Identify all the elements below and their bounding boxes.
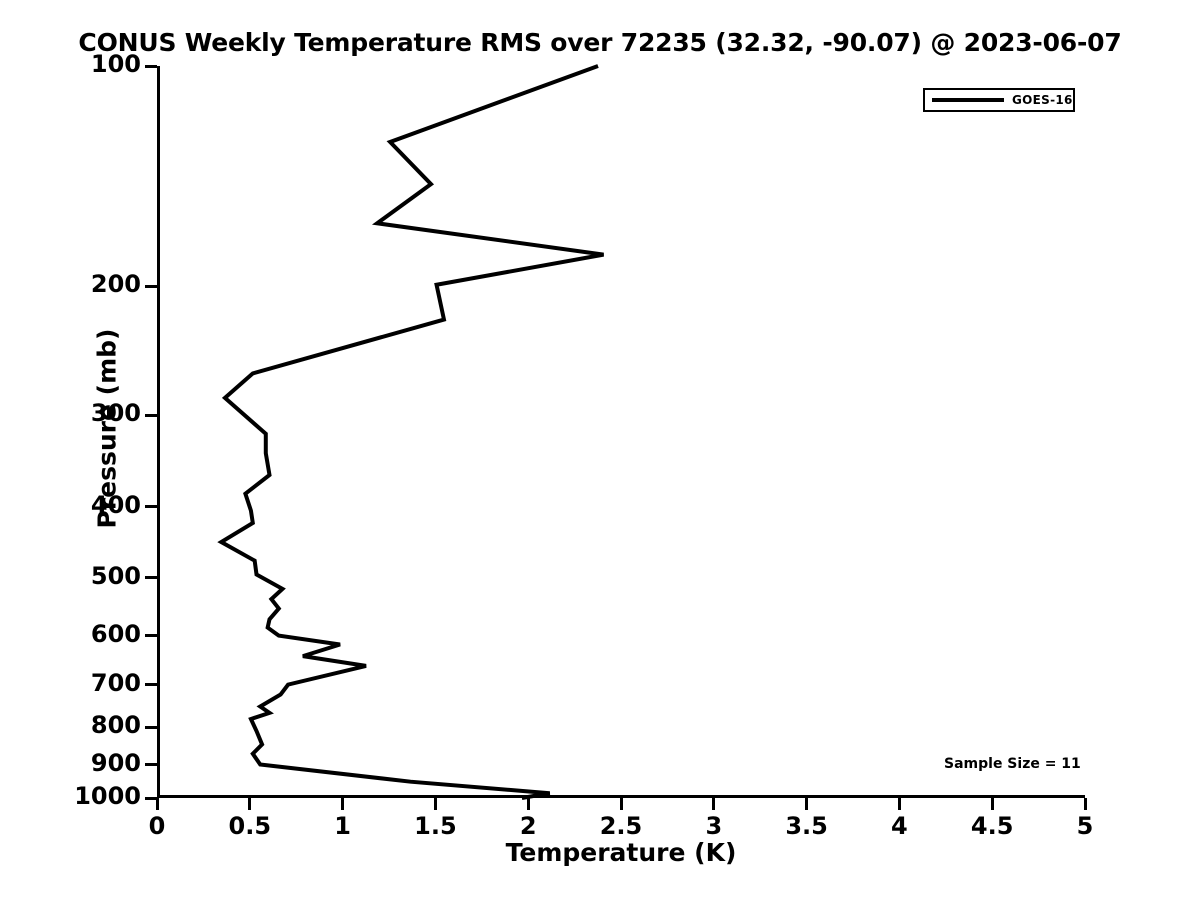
sample-size-annotation: Sample Size = 11 bbox=[944, 756, 1081, 772]
x-axis-tick-label: 0 bbox=[107, 812, 207, 840]
x-axis-tick bbox=[434, 798, 437, 810]
x-axis-tick-label: 1 bbox=[293, 812, 393, 840]
y-axis-tick-label: 900 bbox=[91, 749, 141, 777]
x-axis-tick bbox=[1084, 798, 1087, 810]
x-axis-tick bbox=[341, 798, 344, 810]
chart-title: CONUS Weekly Temperature RMS over 72235 … bbox=[0, 28, 1200, 57]
x-axis-tick bbox=[620, 798, 623, 810]
x-axis-tick bbox=[712, 798, 715, 810]
x-axis-tick bbox=[156, 798, 159, 810]
x-axis-tick-label: 2 bbox=[478, 812, 578, 840]
y-axis-tick-label: 800 bbox=[91, 711, 141, 739]
y-axis-tick bbox=[145, 576, 157, 579]
data-line-svg bbox=[160, 66, 1088, 798]
x-axis-tick-label: 1.5 bbox=[385, 812, 485, 840]
x-axis-tick-label: 3.5 bbox=[757, 812, 857, 840]
x-axis-tick-label: 4 bbox=[849, 812, 949, 840]
y-axis-tick-label: 600 bbox=[91, 620, 141, 648]
x-axis-tick-label: 0.5 bbox=[200, 812, 300, 840]
y-axis-tick-label: 500 bbox=[91, 562, 141, 590]
x-axis-tick bbox=[898, 798, 901, 810]
y-axis-tick-label: 100 bbox=[91, 50, 141, 78]
legend[interactable]: GOES-16 bbox=[923, 88, 1075, 112]
x-axis-tick-label: 3 bbox=[664, 812, 764, 840]
chart-root: CONUS Weekly Temperature RMS over 72235 … bbox=[0, 0, 1200, 900]
series-line-goes-16 bbox=[221, 66, 603, 798]
y-axis-tick-label: 400 bbox=[91, 491, 141, 519]
y-axis-tick bbox=[145, 505, 157, 508]
y-axis-tick bbox=[145, 634, 157, 637]
y-axis-tick bbox=[145, 65, 157, 68]
x-axis-tick-label: 5 bbox=[1035, 812, 1135, 840]
x-axis-tick bbox=[805, 798, 808, 810]
x-axis-tick bbox=[248, 798, 251, 810]
y-axis-tick-label: 300 bbox=[91, 399, 141, 427]
y-axis-tick-label: 200 bbox=[91, 270, 141, 298]
y-axis-tick bbox=[145, 285, 157, 288]
y-axis-tick-label: 700 bbox=[91, 669, 141, 697]
y-axis-label-wrapper: Pressure (mb) bbox=[62, 66, 82, 798]
y-axis-tick bbox=[145, 683, 157, 686]
y-axis-tick bbox=[145, 763, 157, 766]
legend-line-swatch bbox=[932, 98, 1004, 102]
plot-area bbox=[157, 66, 1085, 798]
legend-label-goes-16: GOES-16 bbox=[1012, 93, 1073, 107]
x-axis-tick bbox=[527, 798, 530, 810]
x-axis-tick-label: 2.5 bbox=[571, 812, 671, 840]
y-axis-label: Pressure (mb) bbox=[93, 279, 122, 579]
y-axis-tick bbox=[145, 726, 157, 729]
y-axis-tick-label: 1000 bbox=[74, 782, 141, 810]
y-axis-tick bbox=[145, 414, 157, 417]
x-axis-tick-label: 4.5 bbox=[942, 812, 1042, 840]
x-axis-tick bbox=[991, 798, 994, 810]
x-axis-label: Temperature (K) bbox=[157, 838, 1085, 867]
